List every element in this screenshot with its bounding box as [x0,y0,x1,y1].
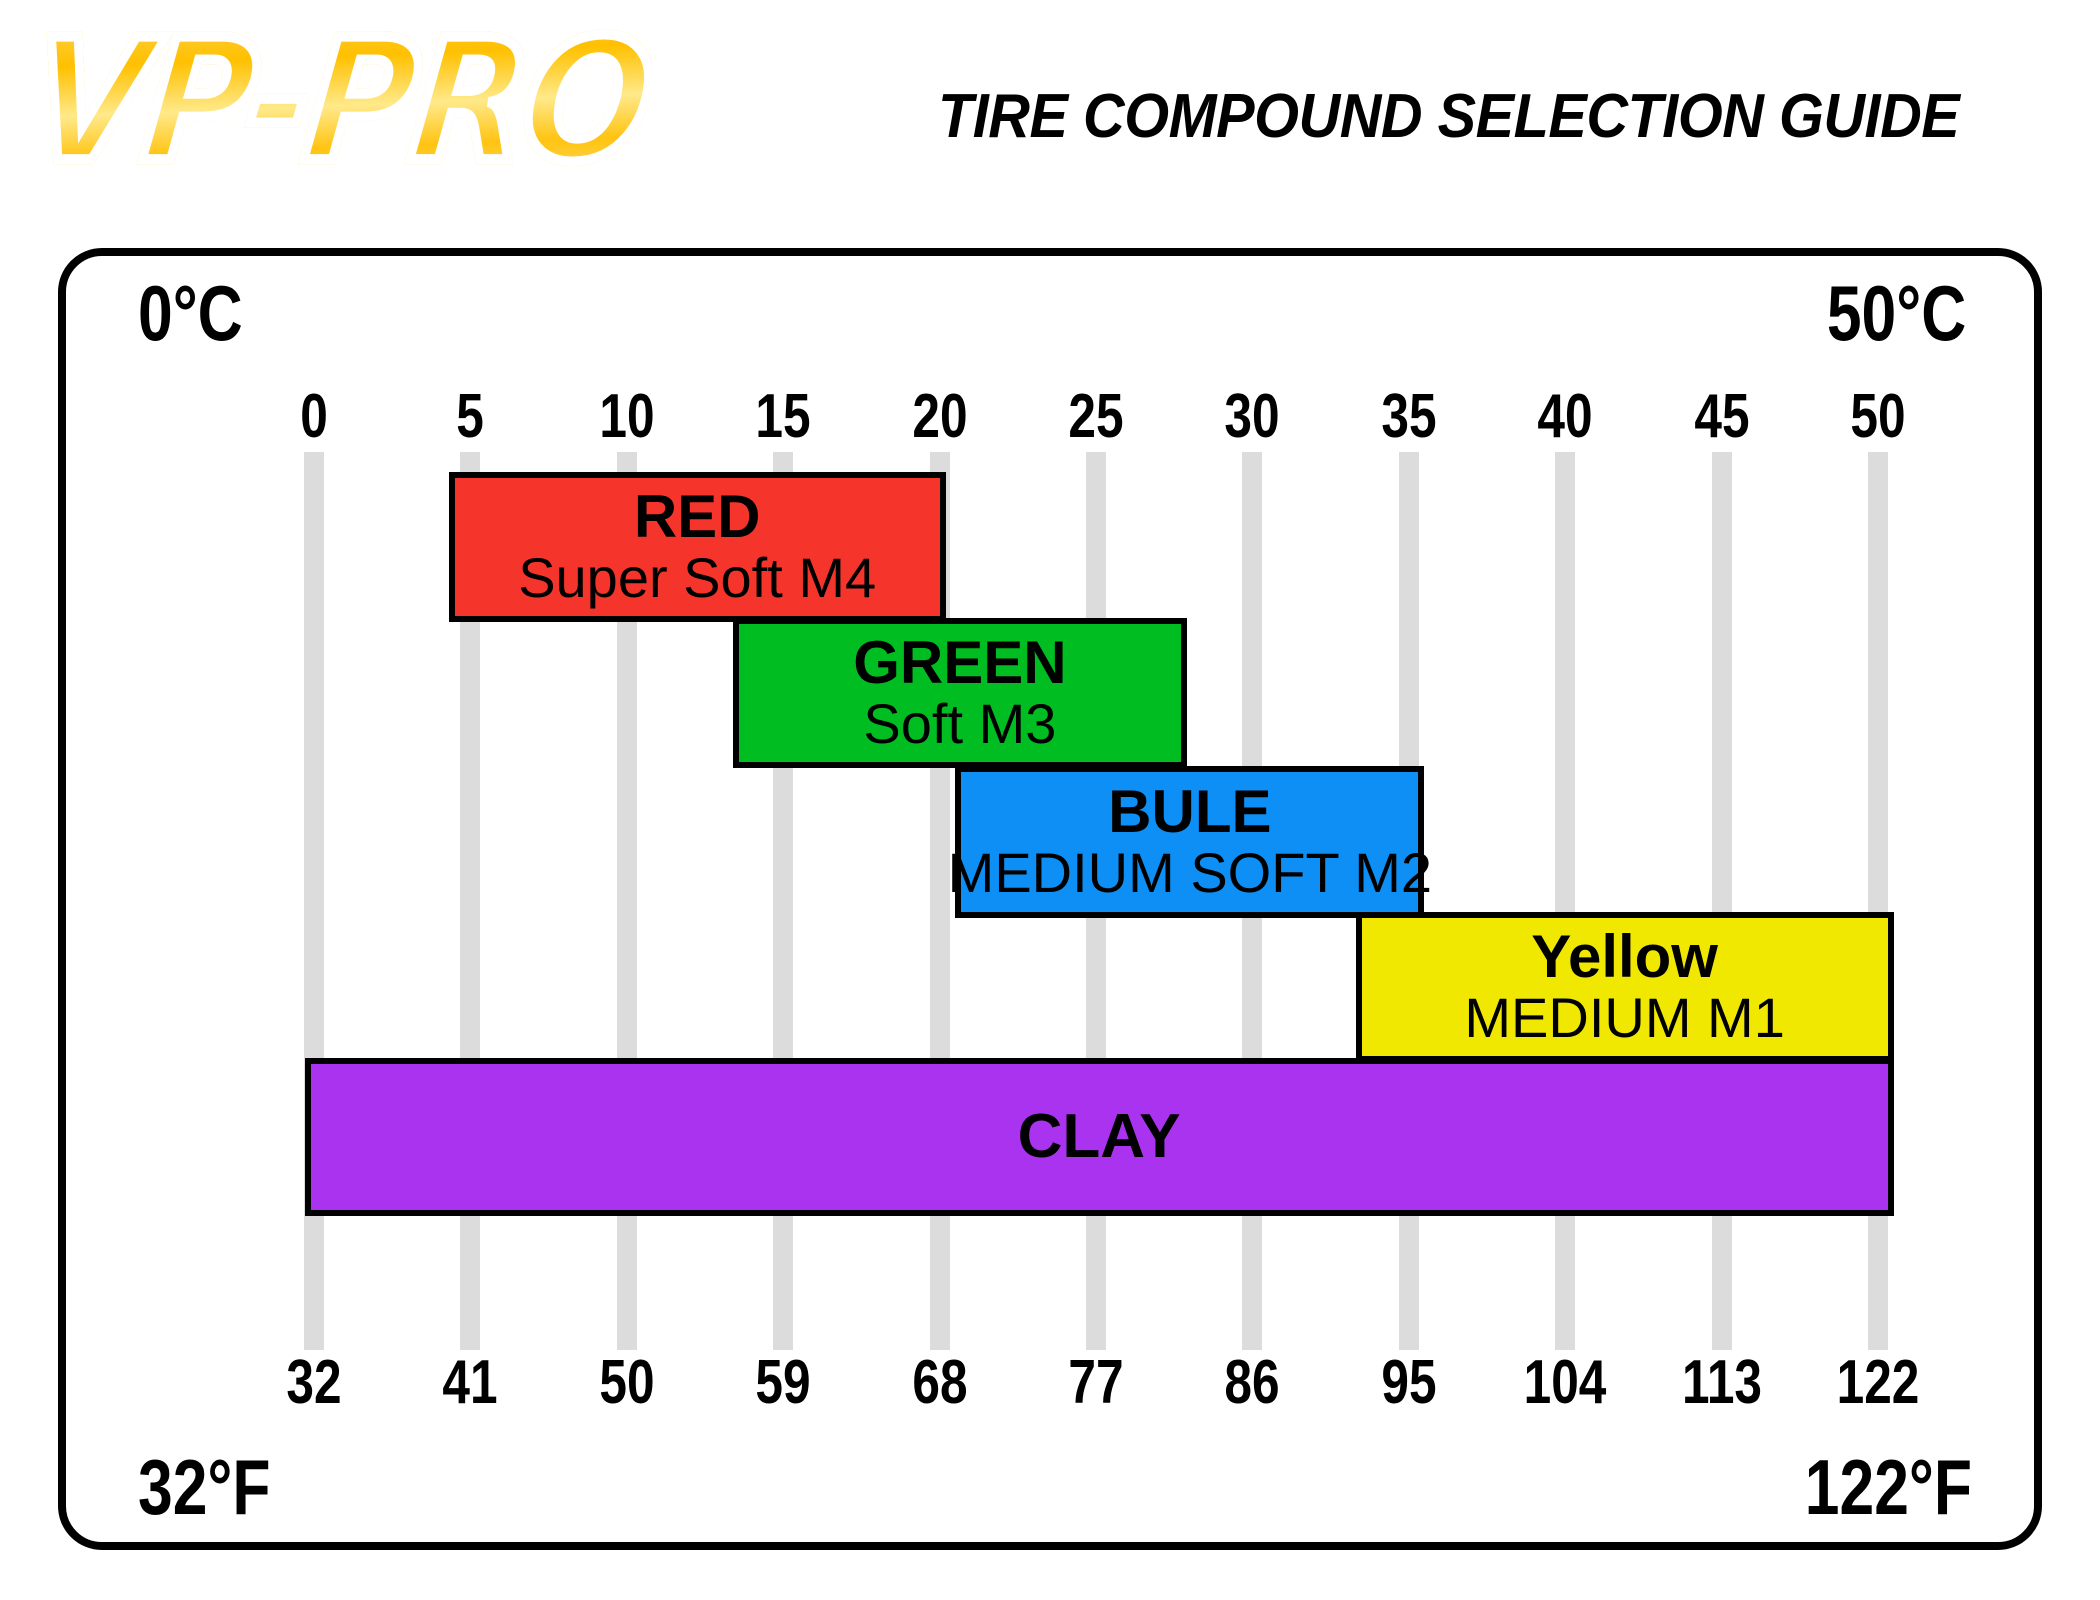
fahrenheit-tick-59: 59 [756,1352,811,1414]
compound-name-red: RED [634,486,761,548]
fahrenheit-tick-86: 86 [1225,1352,1280,1414]
page-title: TIRE COMPOUND SELECTION GUIDE [938,86,1959,148]
fahrenheit-tick-68: 68 [912,1352,967,1414]
compound-spec-green: Soft M3 [863,694,1056,754]
celsius-tick-40: 40 [1538,386,1593,448]
compound-spec-red: Super Soft M4 [518,548,876,608]
vp-pro-logo: VP-PRO [24,18,656,186]
compound-bar-green[interactable]: GREENSoft M3 [733,618,1187,768]
compound-name-clay: CLAY [1018,1106,1181,1168]
celsius-tick-20: 20 [912,386,967,448]
celsius-tick-0: 0 [300,386,328,448]
compound-bar-clay[interactable]: CLAY [305,1058,1894,1216]
compound-bar-red[interactable]: REDSuper Soft M4 [449,472,946,622]
celsius-tick-50: 50 [1850,386,1905,448]
fahrenheit-tick-50: 50 [599,1352,654,1414]
temperature-chart: 05101520253035404550 3241505968778695104… [66,364,2034,1434]
celsius-tick-15: 15 [756,386,811,448]
celsius-tick-35: 35 [1381,386,1436,448]
fahrenheit-tick-104: 104 [1524,1352,1607,1414]
celsius-axis-ticks: 05101520253035404550 [66,386,2034,450]
compound-spec-bule: MEDIUM SOFT M2 [948,843,1432,903]
fahrenheit-tick-77: 77 [1068,1352,1123,1414]
compound-bar-yellow[interactable]: YellowMEDIUM M1 [1356,912,1894,1062]
fahrenheit-max-label: 122°F [1805,1448,1972,1526]
fahrenheit-tick-95: 95 [1381,1352,1436,1414]
fahrenheit-tick-41: 41 [443,1352,498,1414]
compound-name-green: GREEN [853,632,1066,694]
celsius-tick-10: 10 [599,386,654,448]
fahrenheit-axis-ticks: 3241505968778695104113122 [66,1352,2034,1416]
compound-name-bule: BULE [1108,781,1271,843]
fahrenheit-tick-113: 113 [1682,1352,1762,1414]
fahrenheit-min-label: 32°F [138,1448,270,1526]
fahrenheit-tick-122: 122 [1837,1352,1920,1414]
compound-spec-yellow: MEDIUM M1 [1464,988,1784,1048]
celsius-tick-5: 5 [457,386,485,448]
compound-bar-bule[interactable]: BULEMEDIUM SOFT M2 [955,766,1424,918]
celsius-tick-25: 25 [1068,386,1123,448]
compound-name-yellow: Yellow [1531,926,1718,988]
celsius-tick-45: 45 [1694,386,1749,448]
celsius-tick-30: 30 [1225,386,1280,448]
celsius-min-label: 0°C [138,274,243,352]
chart-panel: 0°C 50°C 32°F 122°F 05101520253035404550… [58,248,2042,1550]
fahrenheit-tick-32: 32 [286,1352,341,1414]
page-header: VP-PRO VP-PRO TIRE COMPOUND SELECTION GU… [0,0,2100,228]
celsius-max-label: 50°C [1827,274,1966,352]
